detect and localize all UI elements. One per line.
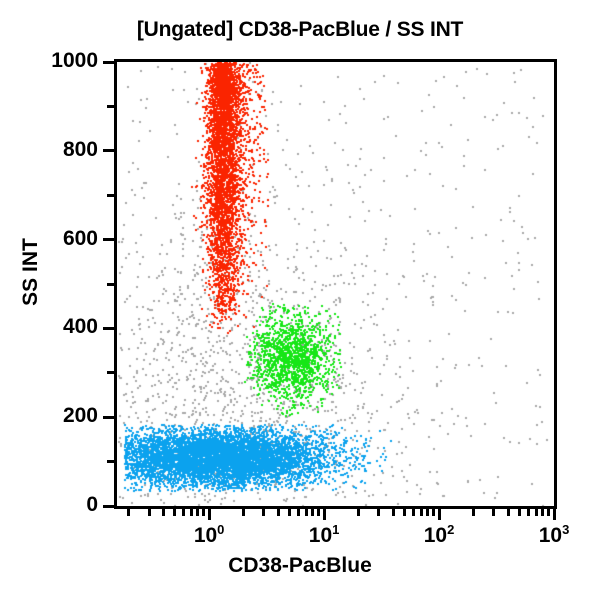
y-axis-major-tick [103, 61, 114, 64]
x-axis-minor-tick [412, 509, 415, 516]
x-axis-minor-tick [527, 509, 530, 516]
y-axis-major-tick [103, 149, 114, 152]
x-axis-minor-tick [472, 509, 475, 516]
x-axis-minor-tick [288, 509, 291, 516]
y-axis-minor-tick [107, 194, 114, 197]
x-axis-minor-tick [432, 509, 435, 516]
x-axis-major-tick [208, 509, 211, 520]
x-axis-minor-tick [311, 509, 314, 516]
x-axis-minor-tick [305, 509, 308, 516]
x-axis-minor-tick [162, 509, 165, 516]
y-axis-major-tick [103, 327, 114, 330]
y-axis-tick-label: 0 [86, 493, 98, 517]
x-axis-minor-tick [507, 509, 510, 516]
x-axis-minor-tick [420, 509, 423, 516]
x-axis-minor-tick [127, 509, 130, 516]
x-axis-minor-tick [426, 509, 429, 516]
x-axis-minor-tick [392, 509, 395, 516]
x-axis-major-tick [438, 509, 441, 520]
x-axis-minor-tick [196, 509, 199, 516]
x-axis-minor-tick [541, 509, 544, 516]
x-axis-minor-tick [173, 509, 176, 516]
y-axis-minor-tick [107, 105, 114, 108]
x-axis-minor-tick [190, 509, 193, 516]
flow-cytometry-dotplot-figure: [Ungated] CD38-PacBlue / SS INT 02004006… [0, 0, 600, 600]
x-axis-major-tick [553, 509, 556, 520]
y-axis-major-tick [103, 416, 114, 419]
plot-title: [Ungated] CD38-PacBlue / SS INT [0, 18, 600, 42]
x-axis-minor-tick [518, 509, 521, 516]
y-axis-major-tick [103, 238, 114, 241]
x-axis-tick-label: 100 [194, 524, 225, 548]
x-axis-minor-tick [357, 509, 360, 516]
y-axis-tick-label: 600 [63, 227, 98, 251]
x-axis-major-tick [323, 509, 326, 520]
y-axis-tick-label: 800 [63, 138, 98, 162]
x-axis-minor-tick [377, 509, 380, 516]
x-axis-tick-label: 103 [539, 524, 570, 548]
x-axis-tick-label: 101 [309, 524, 340, 548]
x-axis-minor-tick [535, 509, 538, 516]
x-axis-minor-tick [547, 509, 550, 516]
y-axis-minor-tick [107, 371, 114, 374]
x-axis-tick-label: 102 [424, 524, 455, 548]
x-axis-minor-tick [148, 509, 151, 516]
x-axis-minor-tick [317, 509, 320, 516]
y-axis-major-tick [103, 505, 114, 508]
x-axis-minor-tick [262, 509, 265, 516]
y-axis-tick-label: 200 [63, 404, 98, 428]
x-axis-minor-tick [403, 509, 406, 516]
x-axis-minor-tick [242, 509, 245, 516]
y-axis-minor-tick [107, 283, 114, 286]
y-axis-minor-tick [107, 460, 114, 463]
y-axis-tick-label: 400 [63, 315, 98, 339]
x-axis-minor-tick [492, 509, 495, 516]
x-axis-minor-tick [277, 509, 280, 516]
x-axis-label: CD38-PacBlue [0, 554, 600, 578]
scatter-plot-canvas [117, 62, 554, 506]
y-axis-tick-label: 1000 [51, 49, 98, 73]
x-axis-minor-tick [297, 509, 300, 516]
x-axis-minor-tick [182, 509, 185, 516]
x-axis-minor-tick [202, 509, 205, 516]
y-axis-label: SS INT [19, 212, 43, 332]
plot-area [114, 59, 557, 509]
